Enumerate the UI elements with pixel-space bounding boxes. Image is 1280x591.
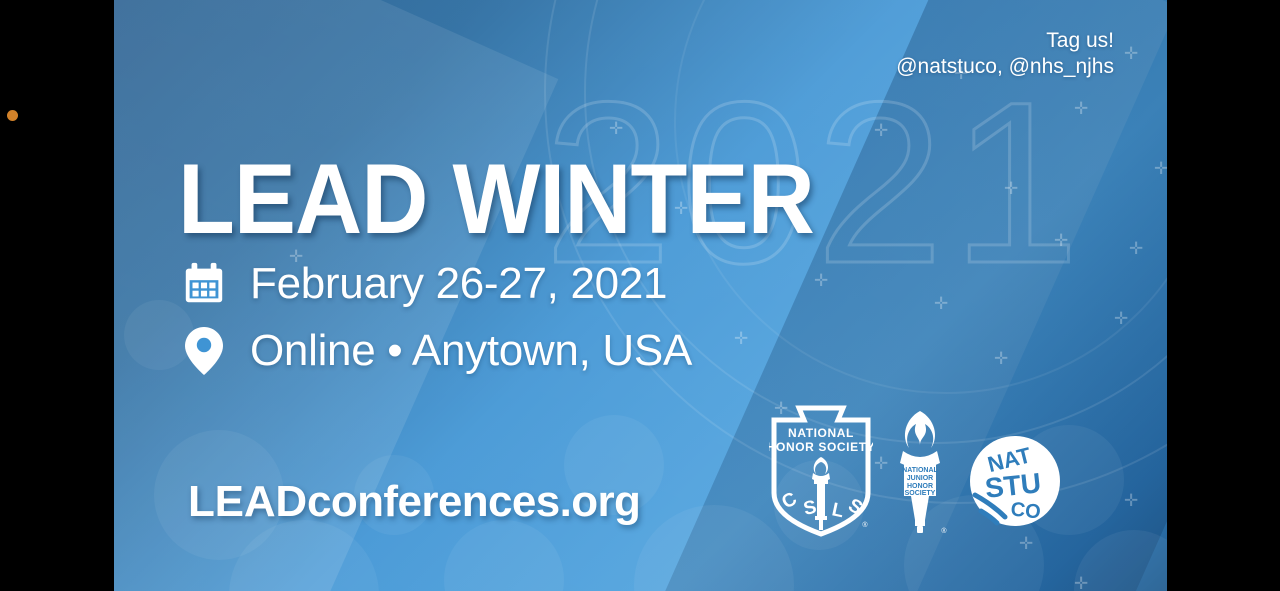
letterbox-right: [1167, 0, 1280, 591]
calendar-icon: [178, 258, 230, 310]
svg-text:HONOR: HONOR: [907, 483, 933, 490]
event-location-text: Online • Anytown, USA: [250, 326, 692, 376]
event-date-text: February 26-27, 2021: [250, 259, 667, 309]
logo-natstuco: NAT STU CO: [967, 433, 1063, 534]
event-date-row: February 26-27, 2021: [178, 258, 667, 310]
tag-us-handles: @natstuco, @nhs_njhs: [896, 54, 1114, 80]
website-url-lead: LEAD: [188, 477, 307, 526]
event-location-row: Online • Anytown, USA: [178, 325, 692, 377]
presentation-stage: 2021 ✛ ✛ ✛ ✛ ✛ ✛ ✛ ✛ ✛ ✛ ✛ ✛ ✛ ✛ ✛ ✛ ✛ ✛…: [0, 0, 1280, 591]
logo-strip: NATIONAL HONOR SOCIETY C S L: [769, 405, 1063, 542]
svg-text:CO: CO: [1010, 499, 1042, 524]
svg-text:®: ®: [862, 521, 868, 529]
svg-text:NATIONAL: NATIONAL: [902, 467, 938, 474]
svg-text:®: ®: [941, 527, 947, 535]
logo-national-honor-society: NATIONAL HONOR SOCIETY C S L: [769, 405, 873, 542]
website-url-rest: conferences.org: [307, 477, 640, 526]
svg-text:L: L: [830, 499, 846, 522]
svg-text:S: S: [802, 497, 819, 520]
logo-national-junior-honor-society: NATIONAL JUNIOR HONOR SOCIETY ®: [889, 407, 951, 542]
tag-us-prompt: Tag us!: [896, 28, 1114, 54]
svg-text:SOCIETY: SOCIETY: [905, 490, 936, 497]
location-pin-icon: [178, 325, 230, 377]
slide-canvas: 2021 ✛ ✛ ✛ ✛ ✛ ✛ ✛ ✛ ✛ ✛ ✛ ✛ ✛ ✛ ✛ ✛ ✛ ✛…: [114, 0, 1167, 591]
website-url[interactable]: LEADconferences.org: [188, 477, 640, 527]
svg-text:JUNIOR: JUNIOR: [907, 475, 933, 482]
svg-text:HONOR SOCIETY: HONOR SOCIETY: [769, 440, 873, 454]
page-title: LEAD WINTER: [178, 142, 814, 256]
svg-text:NATIONAL: NATIONAL: [788, 426, 854, 440]
tag-us-block: Tag us! @natstuco, @nhs_njhs: [896, 28, 1114, 79]
letterbox-left: [0, 0, 114, 591]
cursor-dot-indicator[interactable]: [7, 110, 18, 121]
